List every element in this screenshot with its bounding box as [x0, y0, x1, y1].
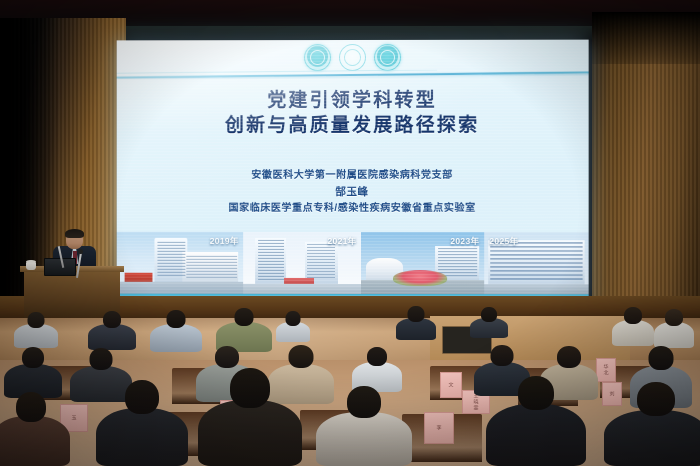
- audience-person: [96, 382, 188, 466]
- photo-strip-images: 2019年 2021年: [117, 232, 589, 294]
- slide-logo-row: [117, 42, 589, 73]
- seat-name-card: 文: [440, 372, 462, 398]
- slide-title: 党建引领学科转型 创新与高质量发展路径探索: [117, 88, 589, 139]
- institution-logo-2-icon: [339, 43, 366, 70]
- photo-year-2023: 2023年: [450, 235, 479, 247]
- slide-divider: [117, 70, 589, 80]
- hospital-photo-2023: 2023年: [361, 232, 484, 294]
- right-wood-wall: [592, 12, 700, 342]
- name-card-text: 文: [448, 382, 455, 388]
- audience-person: [4, 350, 62, 398]
- audience-person: [316, 388, 412, 466]
- subtitle-presenter-name: 郜玉峰: [117, 184, 589, 201]
- seat-name-card: 华北: [596, 358, 616, 382]
- wall-shadow-right: [592, 12, 700, 64]
- audience-person: [150, 314, 202, 352]
- photo-year-2019: 2019年: [210, 235, 239, 247]
- hospital-photo-2021: 2021年: [244, 232, 362, 294]
- photo-year-2025: 2025年: [489, 235, 518, 247]
- audience-person: [14, 314, 58, 348]
- audience-person: [88, 314, 136, 350]
- subtitle-organization: 安徽医科大学第一附属医院感染病科党支部: [117, 168, 589, 184]
- speaker-hair: [65, 229, 84, 238]
- slide-subtitle: 安徽医科大学第一附属医院感染病科党支部 郜玉峰 国家临床医学重点专科/感染性疾病…: [117, 168, 589, 218]
- seated-audience: 华北 刘 文 王晓雯: [0, 316, 700, 466]
- audience-person: [396, 306, 436, 340]
- audience-person: [276, 312, 310, 342]
- seat-name-card: 李: [424, 412, 454, 444]
- audience-person: [612, 308, 654, 346]
- projection-screen: 党建引领学科转型 创新与高质量发展路径探索 安徽医科大学第一附属医院感染病科党支…: [117, 40, 589, 313]
- conference-hall-photo: 党建引领学科转型 创新与高质量发展路径探索 安徽医科大学第一附属医院感染病科党支…: [0, 0, 700, 466]
- photo-year-2021: 2021年: [328, 235, 357, 247]
- audience-person: [604, 386, 700, 466]
- name-card-text: 华北: [603, 364, 610, 376]
- podium-water-cup: [26, 262, 36, 270]
- name-card-text: 玉: [71, 415, 78, 421]
- audience-person: [0, 394, 70, 466]
- audience-person: [654, 310, 694, 348]
- audience-person: [198, 370, 302, 466]
- audience-person: [470, 306, 508, 338]
- name-card-text: 李: [436, 425, 443, 431]
- institution-logo-1-icon: [304, 44, 331, 71]
- hospital-photo-2025: 2025年: [484, 232, 588, 294]
- subtitle-affiliation: 国家临床医学重点专科/感染性疾病安徽省重点实验室: [117, 201, 589, 217]
- institution-logo-3-icon: [374, 43, 401, 70]
- slide-title-line-2: 创新与高质量发展路径探索: [117, 113, 589, 138]
- hospital-photo-2019: 2019年: [117, 232, 244, 294]
- slide-title-line-1: 党建引领学科转型: [117, 88, 589, 113]
- audience-person: [486, 378, 586, 466]
